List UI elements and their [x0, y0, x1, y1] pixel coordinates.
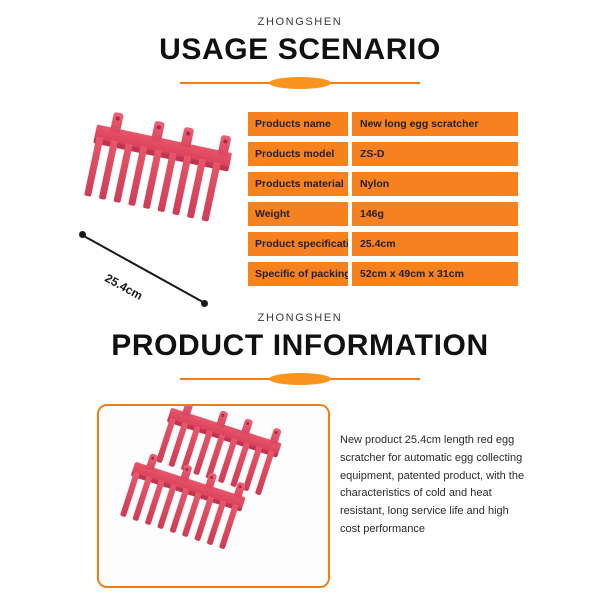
spec-value: Nylon [352, 172, 518, 196]
dimension-endpoint-end [201, 300, 208, 307]
brand-kicker: ZHONGSHEN [0, 16, 600, 28]
scenario-product-photo: 25.4cm [70, 132, 245, 282]
dimension-endpoint-start [79, 231, 86, 238]
spec-label: Weight [248, 202, 348, 226]
usage-scenario-header: ZHONGSHEN USAGE SCENARIO [0, 16, 600, 90]
dimension-label: 25.4cm [103, 271, 145, 303]
table-row: Specific of packing 52cm x 49cm x 31cm [248, 262, 518, 286]
product-photo [99, 406, 328, 586]
divider-ornament [180, 76, 420, 90]
divider-ornament [180, 372, 420, 386]
spec-label: Products name [248, 112, 348, 136]
spec-value: 25.4cm [352, 232, 518, 256]
product-photo-frame [97, 404, 330, 588]
page-title: USAGE SCENARIO [0, 34, 600, 66]
brand-kicker: ZHONGSHEN [0, 312, 600, 324]
table-row: Products material Nylon [248, 172, 518, 196]
spec-value: New long egg scratcher [352, 112, 518, 136]
spec-label: Products model [248, 142, 348, 166]
table-row: Products name New long egg scratcher [248, 112, 518, 136]
specification-table: Products name New long egg scratcher Pro… [248, 112, 518, 292]
spec-label: Product specification [248, 232, 348, 256]
spec-label: Specific of packing [248, 262, 348, 286]
table-row: Products model ZS-D [248, 142, 518, 166]
divider-lens-icon [269, 77, 331, 89]
product-information-header: ZHONGSHEN PRODUCT INFORMATION [0, 312, 600, 386]
spec-value: 52cm x 49cm x 31cm [352, 262, 518, 286]
spec-value: ZS-D [352, 142, 518, 166]
spec-value: 146g [352, 202, 518, 226]
section-title: PRODUCT INFORMATION [0, 330, 600, 362]
spec-label: Products material [248, 172, 348, 196]
table-row: Weight 146g [248, 202, 518, 226]
product-description: New product 25.4cm length red egg scratc… [340, 432, 525, 539]
divider-lens-icon [269, 373, 331, 385]
dimension-indicator: 25.4cm [70, 192, 245, 282]
table-row: Product specification 25.4cm [248, 232, 518, 256]
